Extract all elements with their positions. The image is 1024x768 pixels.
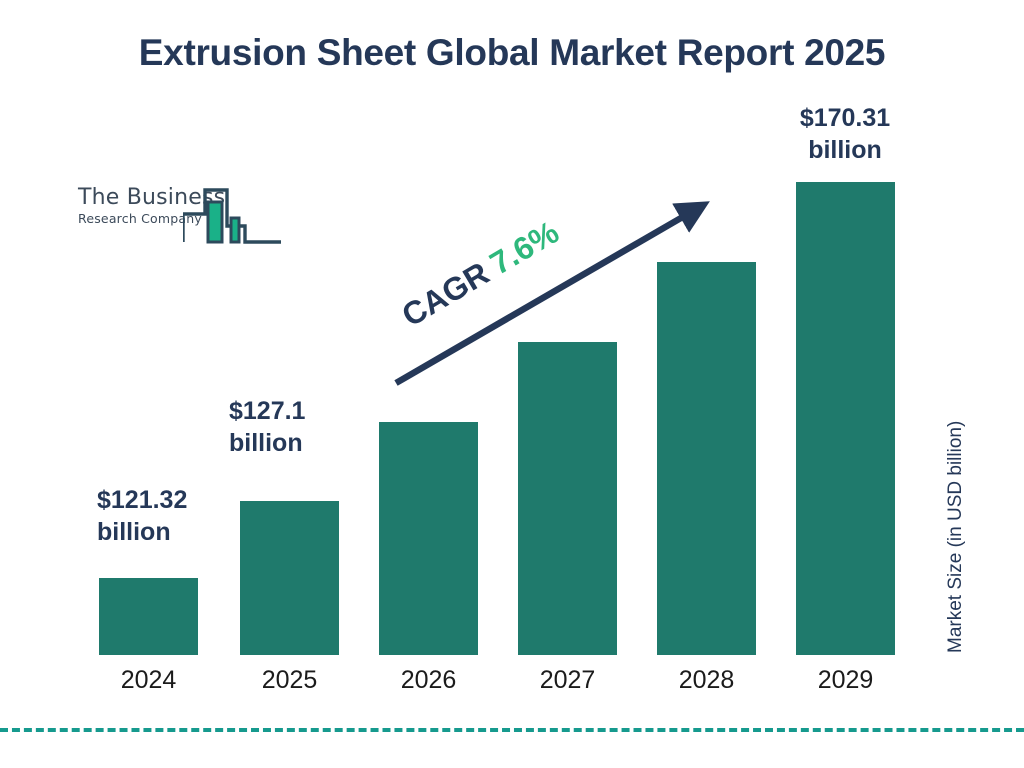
bar-2026 [379,422,478,655]
value-label-2025-unit: billion [229,428,305,460]
value-label-2029-amount: $170.31 [800,104,890,132]
x-axis-label-2024: 2024 [99,666,198,695]
bar-2024 [99,578,198,655]
value-label-2024-amount: $121.32 [97,486,187,514]
x-axis-label-2027: 2027 [518,666,617,695]
x-axis-label-2026: 2026 [379,666,478,695]
y-axis-title: Market Size (in USD billion) [945,421,967,653]
footer-divider [0,728,1024,732]
bar-2028 [657,262,756,655]
x-axis-label-2025: 2025 [240,666,339,695]
value-label-2029-unit: billion [790,135,900,167]
value-label-2024-unit: billion [97,517,187,549]
bar-2029 [796,182,895,655]
chart-canvas: Extrusion Sheet Global Market Report 202… [0,0,1024,768]
bar-2025 [240,501,339,655]
x-axis-label-2029: 2029 [796,666,895,695]
x-axis-label-2028: 2028 [657,666,756,695]
value-label-2029: $170.31 billion [790,103,900,166]
value-label-2025-amount: $127.1 [229,397,305,425]
bar-2027 [518,342,617,655]
value-label-2024: $121.32 billion [97,485,187,548]
value-label-2025: $127.1 billion [229,396,305,459]
